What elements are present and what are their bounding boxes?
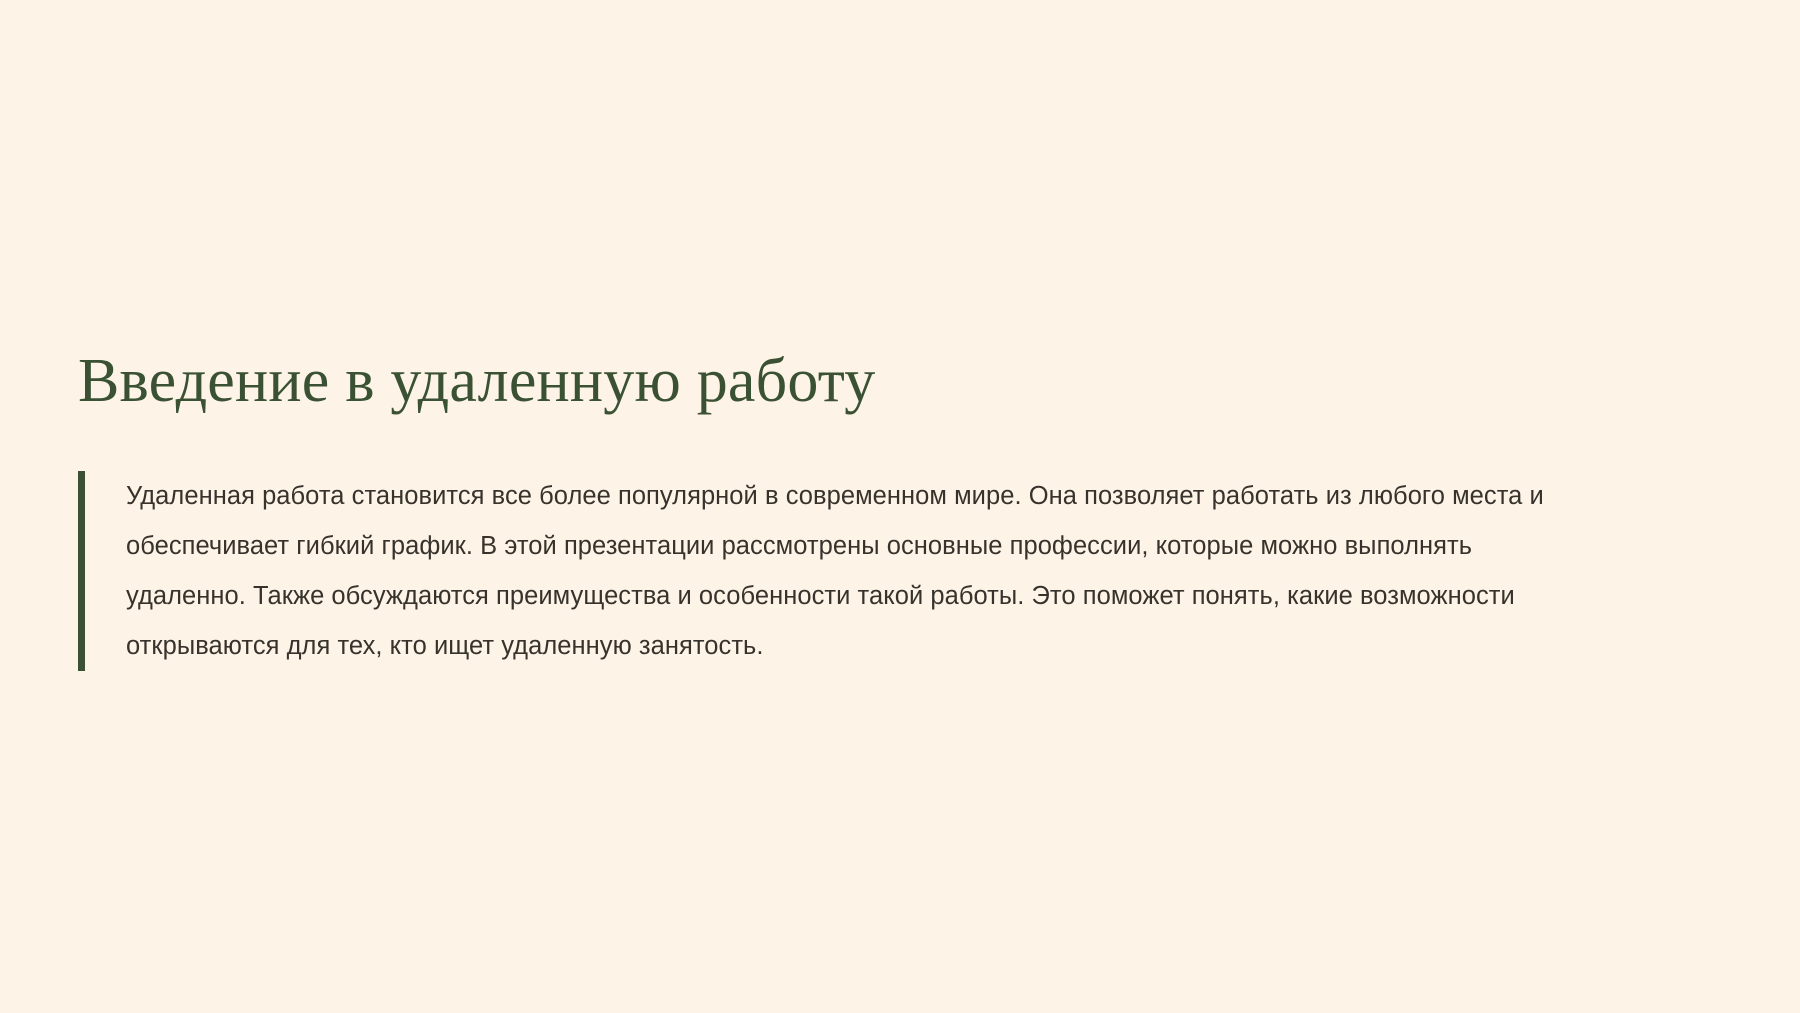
slide-content: Введение в удаленную работу Удаленная ра… <box>78 348 1738 671</box>
body-paragraph: Удаленная работа становится все более по… <box>126 471 1546 671</box>
accent-bar <box>78 471 85 671</box>
page-title: Введение в удаленную работу <box>78 348 1738 415</box>
presentation-slide: Введение в удаленную работу Удаленная ра… <box>0 0 1800 1013</box>
body-block: Удаленная работа становится все более по… <box>78 471 1738 671</box>
